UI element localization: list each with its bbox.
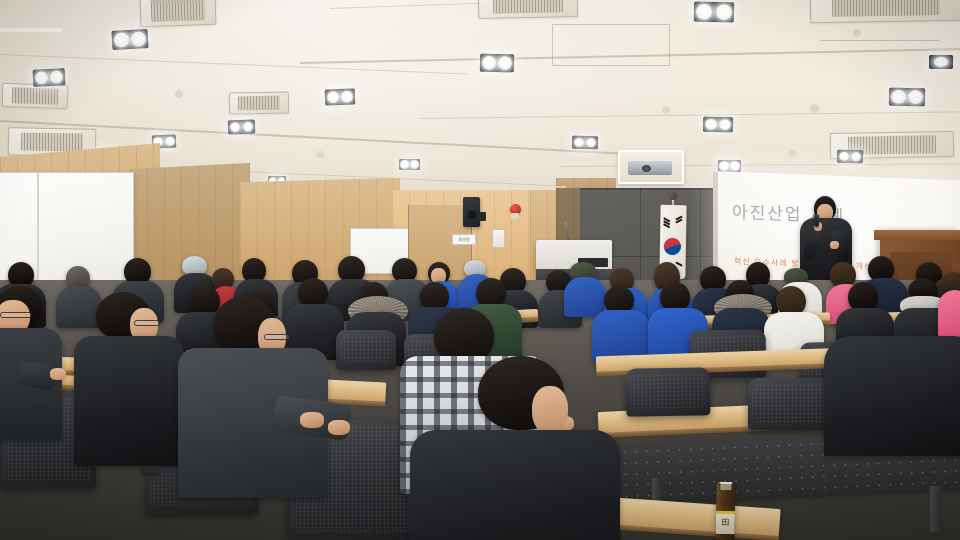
speaker-bracket bbox=[479, 212, 486, 221]
ceiling-air-vent bbox=[139, 0, 216, 27]
ceiling-air-vent bbox=[229, 91, 289, 114]
fire-alarm-base bbox=[511, 213, 519, 219]
bottle-neck bbox=[720, 482, 731, 490]
door-sign: 회의실 bbox=[452, 234, 476, 245]
ceiling-access-panel bbox=[552, 24, 670, 66]
ceiling-downlight bbox=[837, 150, 863, 163]
wall-speaker-icon bbox=[463, 197, 480, 227]
ceiling-downlight bbox=[399, 159, 420, 170]
projector-mount-bar bbox=[0, 28, 62, 32]
ceiling-downlight bbox=[325, 88, 356, 105]
ceiling-downlight bbox=[480, 54, 514, 73]
wall-control-plate[interactable] bbox=[492, 229, 505, 248]
ceiling-projector-mount bbox=[618, 150, 684, 184]
chair[interactable] bbox=[626, 367, 711, 416]
ceiling-downlight bbox=[33, 68, 66, 87]
desk-leg bbox=[930, 486, 942, 532]
ceiling-sprinkler bbox=[790, 151, 795, 156]
ceiling-air-vent bbox=[810, 0, 960, 23]
ceiling-downlight bbox=[718, 160, 741, 172]
projector-lens bbox=[642, 165, 651, 172]
flag-finial bbox=[669, 192, 677, 200]
presenter-hand bbox=[830, 241, 839, 249]
ceiling-sprinkler bbox=[663, 107, 669, 113]
whiteboard-divider bbox=[37, 173, 39, 291]
ceiling-sprinkler bbox=[318, 152, 323, 157]
bottle-label: 田 bbox=[716, 514, 735, 534]
ceiling-air-vent bbox=[478, 0, 579, 19]
ceiling-access-panel bbox=[820, 40, 940, 67]
handheld-microphone-icon bbox=[814, 214, 819, 227]
ceiling-air-vent bbox=[2, 83, 69, 109]
lectern-top bbox=[874, 230, 960, 240]
bottle-label-text: 田 bbox=[721, 517, 729, 528]
photo-canvas: 회의실 아진산업 사례 혁신 우수사례 발표 · 품질경영 개선 bbox=[0, 0, 960, 540]
ceiling-downlight bbox=[889, 88, 925, 107]
ceiling-downlight bbox=[703, 117, 733, 133]
beverage-bottle[interactable]: 田 bbox=[715, 482, 735, 540]
ceiling-downlight bbox=[112, 29, 149, 50]
ceiling-downlight bbox=[929, 55, 953, 69]
ceiling-sprinkler bbox=[176, 91, 182, 97]
projector-body bbox=[628, 161, 672, 175]
ceiling-downlight bbox=[694, 2, 734, 23]
chair[interactable] bbox=[336, 330, 396, 370]
ceiling-smoke-detector bbox=[811, 105, 818, 112]
ceiling-downlight bbox=[228, 120, 255, 135]
ceiling-sprinkler bbox=[854, 30, 860, 36]
taeguk-symbol bbox=[664, 238, 681, 255]
ceiling-downlight bbox=[572, 136, 598, 149]
